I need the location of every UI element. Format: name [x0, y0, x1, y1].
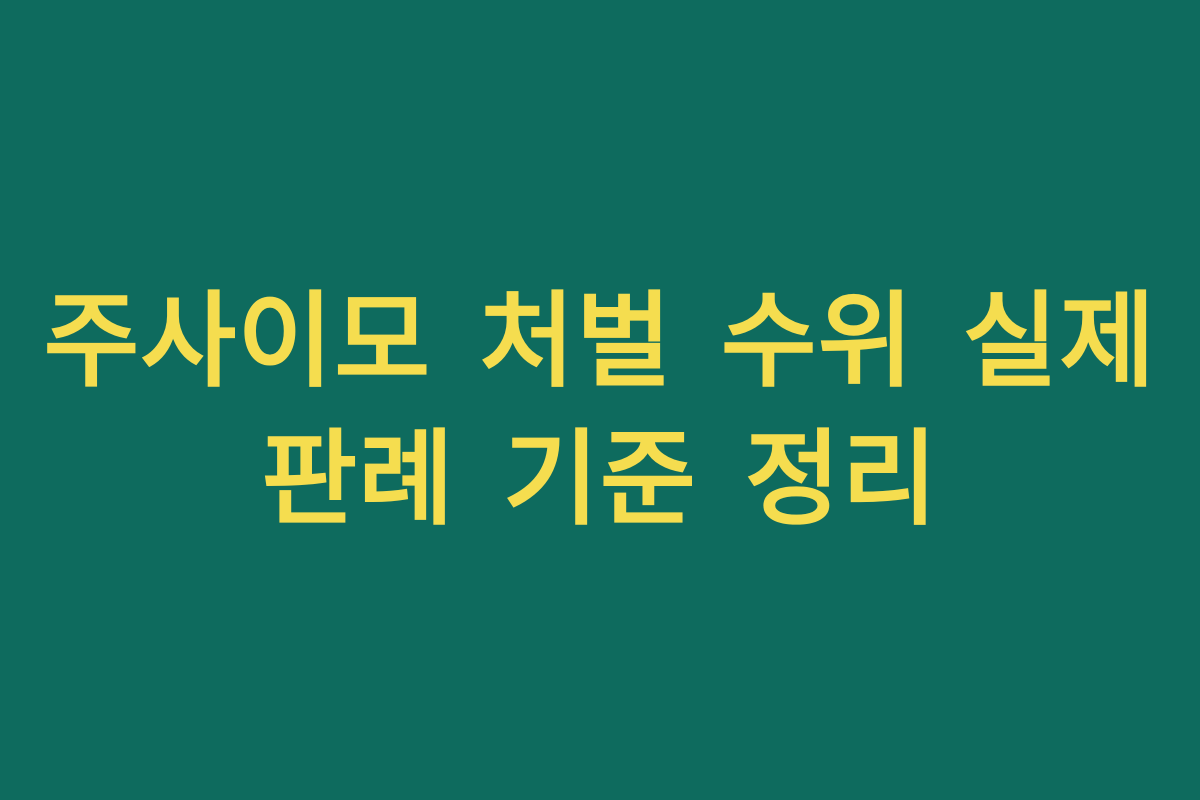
- page-title-line-2: 판례 기준 정리: [40, 410, 1160, 548]
- page-title: 주사이모 처벌 수위 실제 판례 기준 정리: [40, 272, 1160, 548]
- title-card-banner: 주사이모 처벌 수위 실제 판례 기준 정리: [0, 0, 1200, 800]
- page-title-line-1: 주사이모 처벌 수위 실제: [40, 272, 1160, 410]
